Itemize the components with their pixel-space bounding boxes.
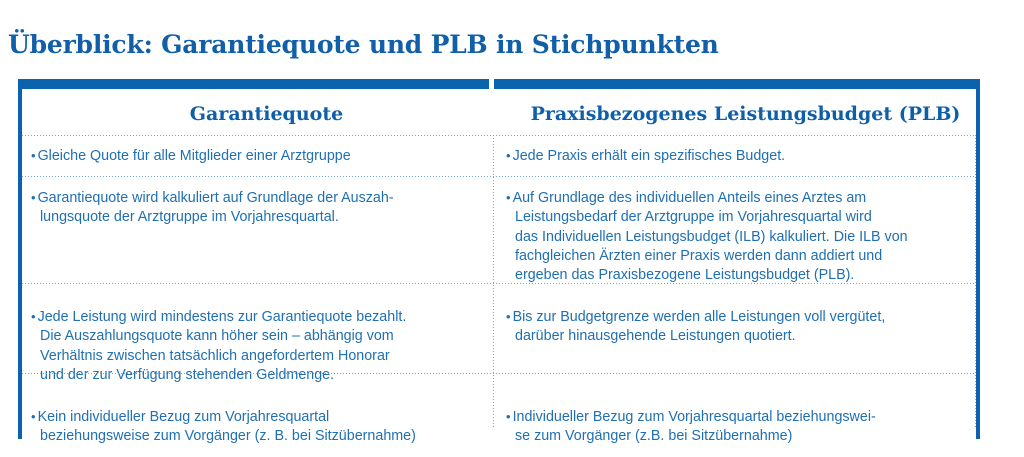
cell-plb-1: •Jede Praxis erhält ein spezifisches Bud… — [493, 135, 976, 177]
cell-text: •Jede Leistung wird mindestens zur Garan… — [22, 296, 493, 396]
cell-body: Jede Praxis erhält ein spezifisches Budg… — [513, 148, 786, 164]
table-row: •Garantiequote wird kalkuliert auf Grund… — [22, 177, 976, 296]
cell-garantiequote-1: •Gleiche Quote für alle Mitglieder einer… — [22, 135, 493, 177]
cell-plb-3: •Bis zur Budgetgrenze werden alle Leistu… — [493, 296, 976, 396]
table-body: •Gleiche Quote für alle Mitglieder einer… — [22, 135, 976, 457]
cell-text: •Jede Praxis erhält ein spezifisches Bud… — [493, 135, 976, 177]
comparison-table: Garantiequote Praxisbezogenes Leistungsb… — [18, 80, 980, 438]
rule-row-2 — [22, 283, 976, 284]
rule-row-1 — [22, 176, 976, 177]
cell-body: Garantiequote wird kalkuliert auf Grundl… — [38, 190, 394, 225]
body-column-divider — [493, 135, 494, 429]
table-header-row: Garantiequote Praxisbezogenes Leistungsb… — [22, 89, 976, 135]
cell-body: Gleiche Quote für alle Mitglieder einer … — [38, 148, 351, 164]
body-right-inner-rule — [975, 135, 976, 429]
rule-row-3 — [22, 373, 976, 374]
cell-garantiequote-2: •Garantiequote wird kalkuliert auf Grund… — [22, 177, 493, 296]
page-title: Überblick: Garantiequote und PLB in Stic… — [8, 30, 719, 60]
table-top-rule-notch — [489, 79, 494, 89]
cell-text: •Gleiche Quote für alle Mitglieder einer… — [22, 135, 493, 177]
table-grid: Garantiequote Praxisbezogenes Leistungsb… — [22, 89, 976, 457]
table-top-rule — [18, 79, 980, 89]
cell-body: Auf Grundlage des individuellen Anteils … — [513, 190, 908, 283]
rule-header-bottom — [22, 135, 976, 136]
column-header-plb-label: Praxisbezogenes Leistungsbudget (PLB) — [493, 89, 976, 125]
cell-body: Jede Leistung wird mindestens zur Garant… — [38, 309, 407, 383]
cell-body: Bis zur Budgetgrenze werden alle Leistun… — [513, 309, 886, 344]
table-row: •Gleiche Quote für alle Mitglieder einer… — [22, 135, 976, 177]
cell-body: Individueller Bezug zum Vorjahresquartal… — [513, 409, 876, 444]
cell-body: Kein individueller Bezug zum Vorjahresqu… — [38, 409, 416, 444]
cell-text: •Garantiequote wird kalkuliert auf Grund… — [22, 177, 493, 238]
table-row: •Jede Leistung wird mindestens zur Garan… — [22, 296, 976, 396]
cell-text: •Bis zur Budgetgrenze werden alle Leistu… — [493, 296, 976, 357]
cell-garantiequote-3: •Jede Leistung wird mindestens zur Garan… — [22, 296, 493, 396]
column-header-garantiequote-label: Garantiequote — [22, 89, 493, 125]
document-page: Überblick: Garantiequote und PLB in Stic… — [0, 0, 1024, 448]
cell-text: •Auf Grundlage des individuellen Anteils… — [493, 177, 976, 296]
column-header-garantiequote: Garantiequote — [22, 89, 493, 135]
column-header-plb: Praxisbezogenes Leistungsbudget (PLB) — [493, 89, 976, 135]
cell-plb-2: •Auf Grundlage des individuellen Anteils… — [493, 177, 976, 296]
